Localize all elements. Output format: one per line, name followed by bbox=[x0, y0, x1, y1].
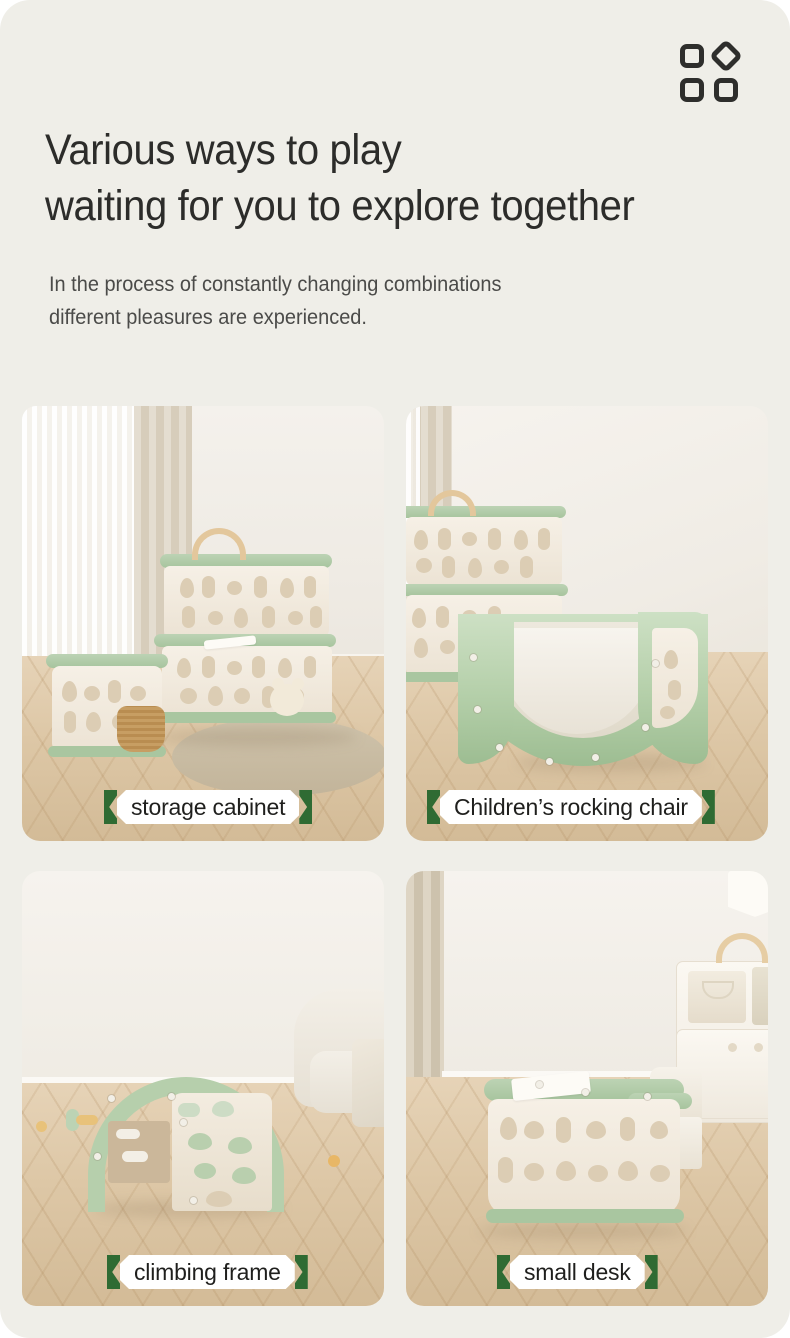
badge-small-desk: small desk bbox=[497, 1255, 658, 1289]
page-subtitle: In the process of constantly changing co… bbox=[49, 268, 676, 334]
promo-card: Various ways to play waiting for you to … bbox=[0, 0, 790, 1338]
photo-small-desk bbox=[406, 871, 768, 1306]
bracket-right-icon bbox=[299, 790, 312, 824]
badge-childrens-rocking-chair: Children’s rocking chair bbox=[427, 790, 715, 824]
gallery-item-climbing-frame[interactable]: climbing frame bbox=[22, 871, 384, 1306]
photo-climbing-frame bbox=[22, 871, 384, 1306]
gallery-item-storage-cabinet[interactable]: storage cabinet bbox=[22, 406, 384, 841]
badge-storage-cabinet: storage cabinet bbox=[104, 790, 312, 824]
four-shapes-logo-icon bbox=[680, 44, 742, 106]
bracket-right-icon bbox=[702, 790, 715, 824]
subhead-line-1: In the process of constantly changing co… bbox=[49, 268, 676, 301]
photo-childrens-rocking-chair bbox=[406, 406, 768, 841]
logo-square-bottom-left bbox=[680, 78, 704, 102]
badge-label: small desk bbox=[510, 1255, 645, 1289]
badge-label: storage cabinet bbox=[117, 790, 299, 824]
bracket-right-icon bbox=[645, 1255, 658, 1289]
gallery-item-childrens-rocking-chair[interactable]: Children’s rocking chair bbox=[406, 406, 768, 841]
product-gallery-grid: storage cabinet bbox=[22, 406, 768, 1314]
badge-label: Children’s rocking chair bbox=[440, 790, 702, 824]
headline-line-2: waiting for you to explore together bbox=[45, 178, 696, 234]
headline-line-1: Various ways to play bbox=[45, 126, 401, 174]
bracket-left-icon bbox=[427, 790, 440, 824]
page-title: Various ways to play waiting for you to … bbox=[45, 122, 696, 234]
logo-diamond-top-right bbox=[709, 39, 743, 73]
logo-square-top-left bbox=[680, 44, 704, 68]
bracket-left-icon bbox=[107, 1255, 120, 1289]
badge-climbing-frame: climbing frame bbox=[107, 1255, 308, 1289]
gallery-item-small-desk[interactable]: small desk bbox=[406, 871, 768, 1306]
bracket-left-icon bbox=[497, 1255, 510, 1289]
badge-label: climbing frame bbox=[120, 1255, 295, 1289]
subhead-line-2: different pleasures are experienced. bbox=[49, 301, 676, 334]
bracket-left-icon bbox=[104, 790, 117, 824]
logo-square-bottom-right bbox=[714, 78, 738, 102]
bracket-right-icon bbox=[295, 1255, 308, 1289]
photo-storage-cabinet bbox=[22, 406, 384, 841]
